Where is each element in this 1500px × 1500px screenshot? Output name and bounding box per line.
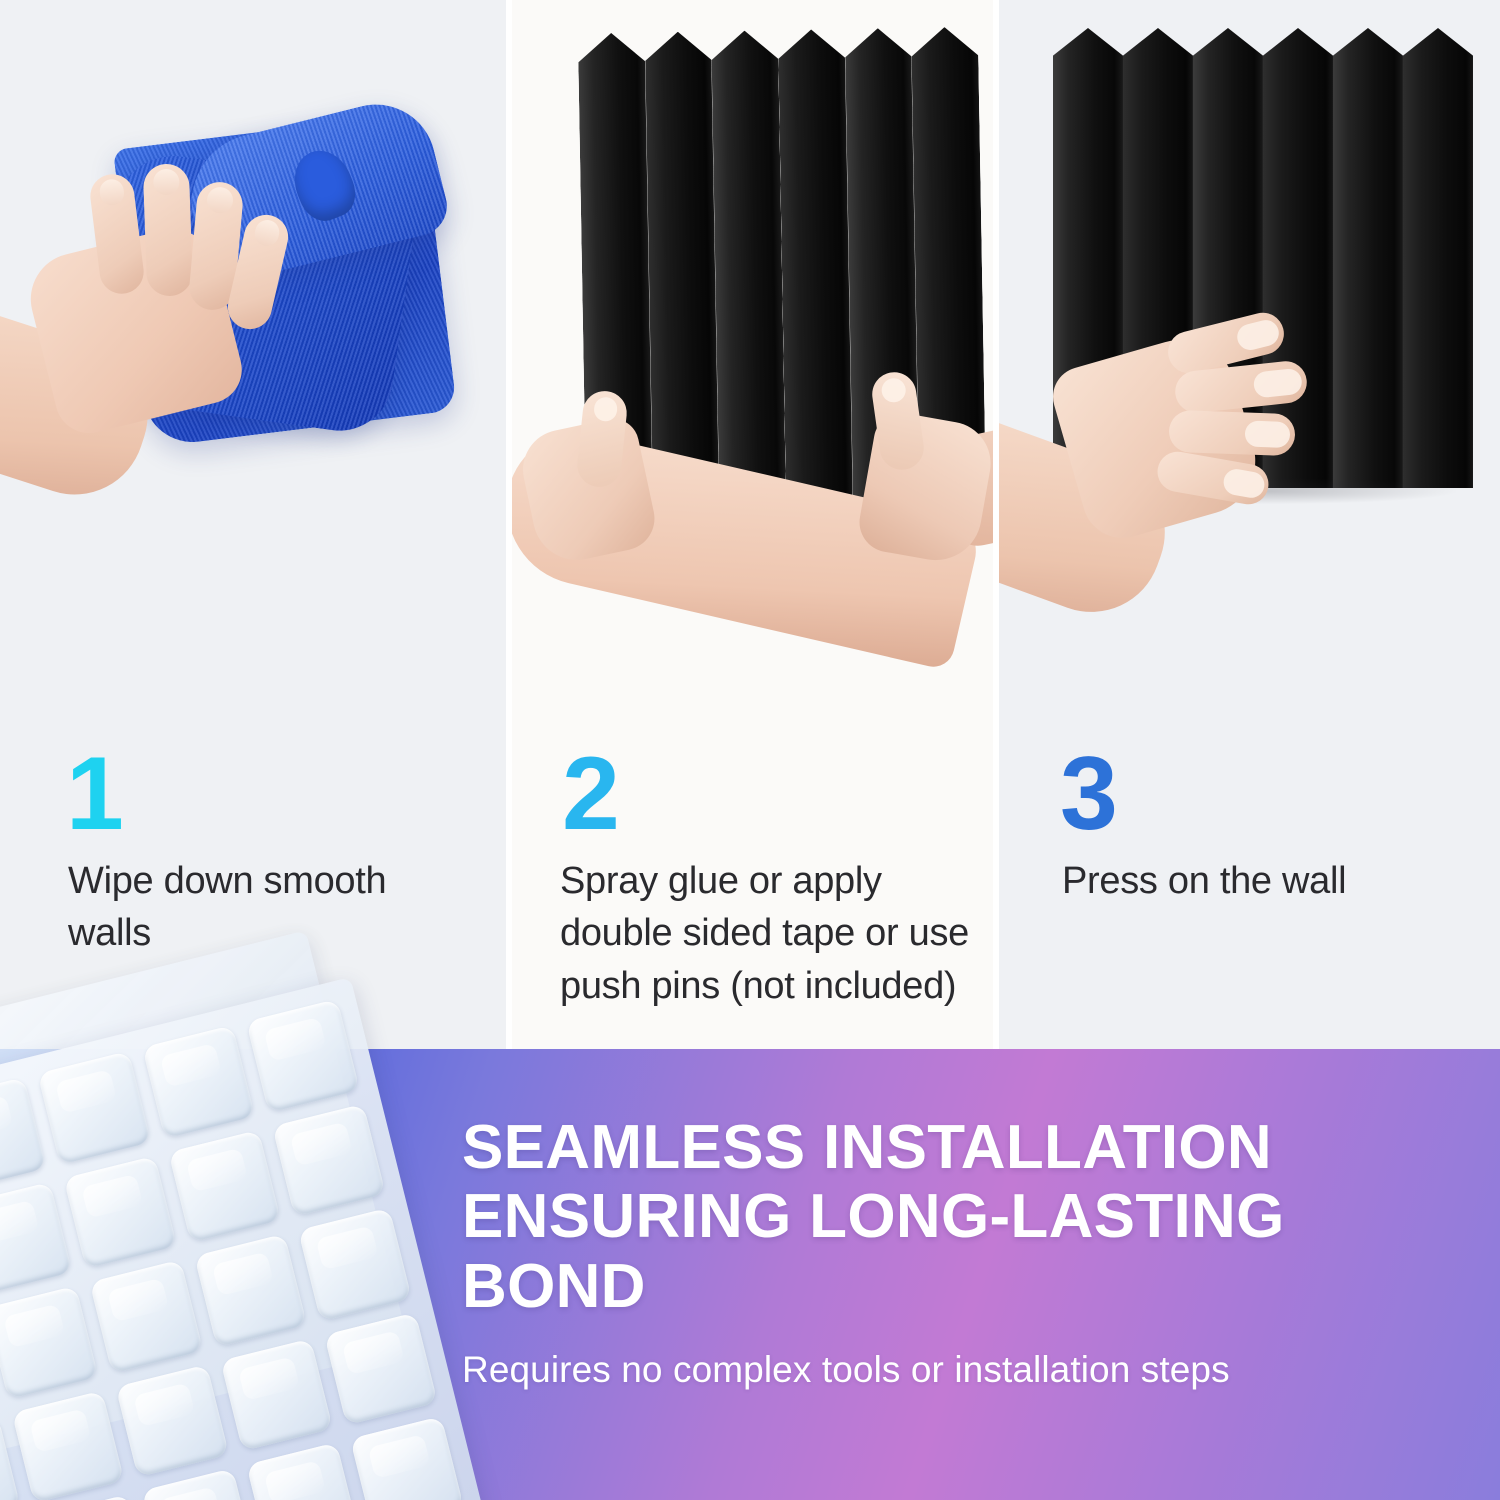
palm-right: [855, 409, 993, 568]
step-number-3: 3: [1060, 742, 1116, 846]
adhesive-pad: [246, 999, 359, 1112]
adhesive-pad: [350, 1417, 463, 1500]
banner-subheadline: Requires no complex tools or installatio…: [462, 1347, 1472, 1393]
adhesive-pad: [64, 1155, 177, 1268]
adhesive-pad: [168, 1129, 281, 1242]
adhesive-pad: [324, 1312, 437, 1425]
step-panel-3: 3 Press on the wall: [999, 0, 1500, 1049]
step-panel-1: 1 Wipe down smooth walls: [0, 0, 506, 1049]
infographic-canvas: 1 Wipe down smooth walls: [0, 0, 1500, 1500]
foam-ridge: [711, 30, 786, 511]
adhesive-pad: [246, 1443, 359, 1500]
hand-right-holding-foam: [842, 400, 993, 600]
step-number-1: 1: [66, 742, 122, 846]
hand-left-holding-foam: [518, 415, 708, 605]
banner-copy: SEAMLESS INSTALLATION ENSURING LONG-LAST…: [462, 1113, 1472, 1394]
adhesive-pad: [90, 1260, 203, 1373]
adhesive-pad: [0, 1286, 99, 1399]
adhesive-pad: [0, 1181, 73, 1294]
adhesive-pad: [194, 1234, 307, 1347]
hand-pressing-panel: [1017, 300, 1367, 630]
hand-wiping: [0, 180, 330, 610]
banner-headline-line-1: SEAMLESS INSTALLATION: [462, 1113, 1472, 1182]
step-panel-2: 2 Spray glue or apply double sided tape …: [512, 0, 993, 1049]
step-caption-2: Spray glue or apply double sided tape or…: [560, 855, 993, 1012]
adhesive-pad: [38, 1051, 151, 1164]
adhesive-pad: [142, 1469, 255, 1500]
step-1-image: [0, 0, 506, 740]
adhesive-pad: [0, 1077, 47, 1190]
adhesive-pad: [142, 1025, 255, 1138]
adhesive-pad: [272, 1103, 385, 1216]
step-2-image: [512, 0, 993, 740]
adhesive-pad: [220, 1338, 333, 1451]
installation-steps-section: 1 Wipe down smooth walls: [0, 0, 1500, 1049]
adhesive-pad: [11, 1390, 124, 1500]
banner-headline-line-2: ENSURING LONG-LASTING BOND: [462, 1182, 1472, 1321]
step-3-image: [999, 0, 1500, 740]
finger-ring: [1168, 410, 1295, 456]
step-caption-3: Press on the wall: [1062, 855, 1482, 907]
foam-ridge: [1403, 28, 1473, 488]
pad-grid: [0, 977, 486, 1500]
finger-middle: [143, 163, 194, 297]
adhesive-pad: [298, 1208, 411, 1321]
adhesive-pad: [116, 1364, 229, 1477]
step-number-2: 2: [562, 742, 618, 846]
